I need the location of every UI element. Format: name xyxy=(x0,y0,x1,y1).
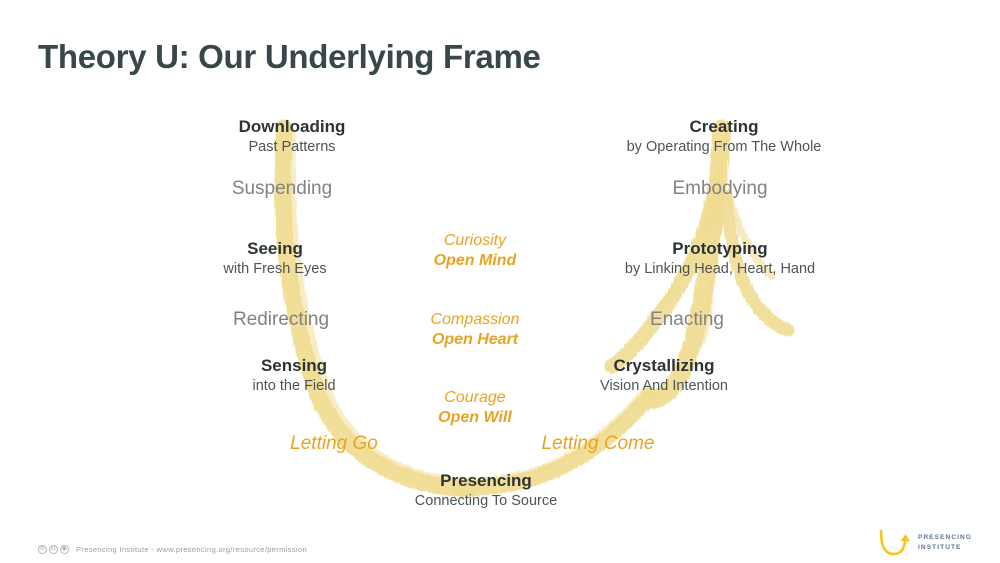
stage-prototyping-sub: by Linking Head, Heart, Hand xyxy=(625,260,815,279)
stage-sensing-sub: into the Field xyxy=(252,377,335,396)
stage-embodying-title: Embodying xyxy=(672,177,767,201)
gateway-open-mind-label: Open Mind xyxy=(434,251,517,271)
stage-seeing: Seeing with Fresh Eyes xyxy=(223,238,326,279)
cc-nd-noderivs-icon: ◉ xyxy=(60,545,69,554)
transition-letting-go: Letting Go xyxy=(290,432,378,456)
stage-creating: Creating by Operating From The Whole xyxy=(627,116,822,157)
stage-sensing: Sensing into the Field xyxy=(252,355,335,396)
stage-enacting-title: Enacting xyxy=(650,308,724,332)
page-title: Theory U: Our Underlying Frame xyxy=(38,38,541,76)
stage-seeing-sub: with Fresh Eyes xyxy=(223,260,326,279)
brand-wordmark-line2: INSTITUTE xyxy=(918,543,972,553)
gateway-open-heart-label: Open Heart xyxy=(431,330,520,350)
stage-presencing-title: Presencing xyxy=(415,470,557,491)
stage-prototyping: Prototyping by Linking Head, Heart, Hand xyxy=(625,238,815,279)
stage-creating-title: Creating xyxy=(627,116,822,137)
stage-embodying: Embodying xyxy=(672,177,767,201)
stage-sensing-title: Sensing xyxy=(252,355,335,376)
gateway-open-will: Courage Open Will xyxy=(438,388,512,428)
stage-suspending-title: Suspending xyxy=(232,177,332,201)
stage-enacting: Enacting xyxy=(650,308,724,332)
u-arrow-logo-icon xyxy=(877,528,911,558)
footer-credit: ⊝ Ω ◉ Presencing Institute - www.presenc… xyxy=(38,545,307,554)
gateway-open-heart: Compassion Open Heart xyxy=(431,310,520,350)
gateway-open-heart-quality: Compassion xyxy=(431,310,520,330)
brand-wordmark: PRESENCING INSTITUTE xyxy=(918,533,972,553)
stage-downloading-title: Downloading xyxy=(239,116,346,137)
brand-wordmark-line1: PRESENCING xyxy=(918,533,972,543)
stage-redirecting-title: Redirecting xyxy=(233,308,329,332)
gateway-open-mind-quality: Curiosity xyxy=(434,231,517,251)
stage-presencing: Presencing Connecting To Source xyxy=(415,470,557,511)
transition-letting-come-label: Letting Come xyxy=(541,432,654,456)
presencing-institute-logo: PRESENCING INSTITUTE xyxy=(877,528,972,558)
cc-by-attribution-icon: Ω xyxy=(49,545,58,554)
gateway-open-will-label: Open Will xyxy=(438,408,512,428)
stage-suspending: Suspending xyxy=(232,177,332,201)
stage-prototyping-title: Prototyping xyxy=(625,238,815,259)
transition-letting-come: Letting Come xyxy=(541,432,654,456)
gateway-open-mind: Curiosity Open Mind xyxy=(434,231,517,271)
stage-creating-sub: by Operating From The Whole xyxy=(627,138,822,157)
cc-license-icon: ⊝ xyxy=(38,545,47,554)
stage-crystallizing-sub: Vision And Intention xyxy=(600,377,728,396)
stage-redirecting: Redirecting xyxy=(233,308,329,332)
stage-downloading: Downloading Past Patterns xyxy=(239,116,346,157)
transition-letting-go-label: Letting Go xyxy=(290,432,378,456)
stage-crystallizing: Crystallizing Vision And Intention xyxy=(600,355,728,396)
creative-commons-badges: ⊝ Ω ◉ xyxy=(38,545,69,554)
gateway-open-will-quality: Courage xyxy=(438,388,512,408)
stage-seeing-title: Seeing xyxy=(223,238,326,259)
stage-downloading-sub: Past Patterns xyxy=(239,138,346,157)
stage-crystallizing-title: Crystallizing xyxy=(600,355,728,376)
footer-credit-text: Presencing Institute - www.presencing.or… xyxy=(76,545,307,554)
stage-presencing-sub: Connecting To Source xyxy=(415,492,557,511)
